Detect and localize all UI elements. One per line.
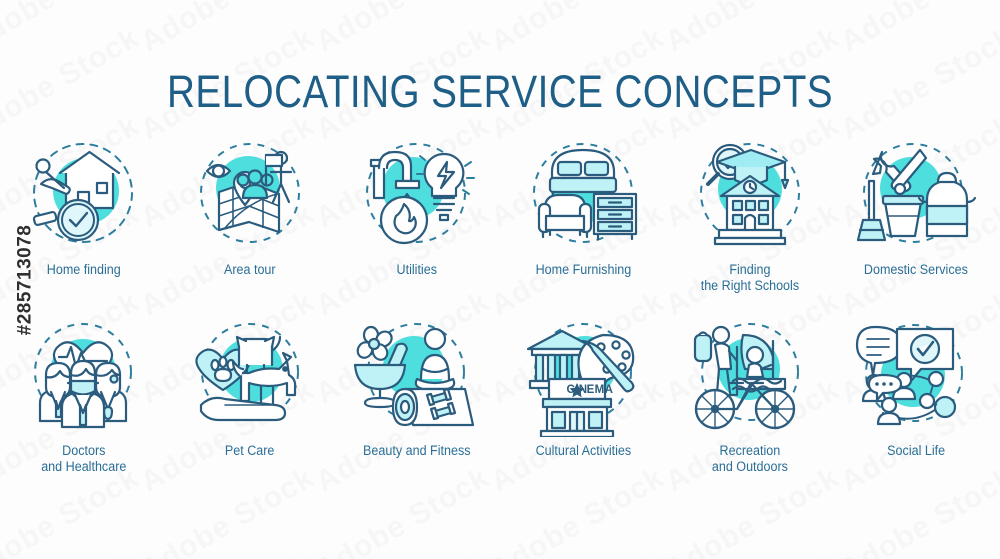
concept-label: Cultural Activities bbox=[535, 443, 631, 459]
concept-item-domestic-services[interactable]: Domestic Services bbox=[833, 136, 1000, 295]
concept-label: Area tour bbox=[224, 262, 276, 278]
pet-care-icon bbox=[175, 317, 325, 437]
concept-row-2: Doctors and Healthcare bbox=[0, 317, 1000, 476]
page-title: RELOCATING SERVICE CONCEPTS bbox=[70, 66, 930, 118]
concept-label: Home Furnishing bbox=[535, 262, 631, 278]
stock-watermark-tile: Adobe Stock bbox=[310, 0, 495, 59]
concept-label: Doctors and Healthcare bbox=[41, 443, 126, 476]
concept-label: Pet Care bbox=[225, 443, 275, 459]
concept-item-cultural-activities[interactable]: CIN EMA Cultural Activities bbox=[500, 317, 667, 476]
concept-label: Finding the Right Schools bbox=[700, 262, 798, 295]
concept-item-area-tour[interactable]: Area tour bbox=[167, 136, 334, 295]
concept-label: Social Life bbox=[887, 443, 945, 459]
stock-watermark-tile: Adobe Stock bbox=[485, 549, 670, 559]
stock-id-text: #285713078 bbox=[14, 224, 36, 335]
concept-item-social-life[interactable]: Social Life bbox=[833, 317, 1000, 476]
social-life-icon bbox=[841, 317, 991, 437]
concept-label: Recreation and Outdoors bbox=[712, 443, 788, 476]
area-tour-icon bbox=[175, 136, 325, 256]
concept-label: Domestic Services bbox=[864, 262, 968, 278]
stock-watermark-tile: Adobe Stock bbox=[660, 0, 845, 59]
stock-watermark-tile: Adobe Stock bbox=[135, 0, 320, 59]
concept-label: Home finding bbox=[46, 262, 120, 278]
concept-item-schools[interactable]: Finding the Right Schools bbox=[666, 136, 833, 295]
stock-watermark-tile: Adobe Stock bbox=[485, 0, 670, 59]
stock-watermark-tile: Adobe Stock bbox=[835, 0, 1000, 59]
schools-icon bbox=[675, 136, 825, 256]
concept-item-beauty-fitness[interactable]: Beauty and Fitness bbox=[333, 317, 500, 476]
concept-item-utilities[interactable]: Utilities bbox=[333, 136, 500, 295]
svg-text:EMA: EMA bbox=[587, 384, 614, 396]
concept-row-1: Home finding bbox=[0, 136, 1000, 295]
concept-label: Beauty and Fitness bbox=[363, 443, 470, 459]
stock-watermark-tile: Adobe Stock bbox=[835, 549, 1000, 559]
domestic-services-icon bbox=[841, 136, 991, 256]
stock-id-watermark: #285713078 bbox=[4, 0, 46, 559]
utilities-icon bbox=[341, 136, 491, 256]
concept-item-home-furnishing[interactable]: Home Furnishing bbox=[500, 136, 667, 295]
stock-watermark-tile: Adobe Stock bbox=[310, 549, 495, 559]
concept-item-recreation-outdoors[interactable]: Recreation and Outdoors bbox=[666, 317, 833, 476]
stock-watermark-tile: Adobe Stock bbox=[135, 549, 320, 559]
stock-watermark-tile: Adobe Stock bbox=[660, 549, 845, 559]
concept-label: Utilities bbox=[396, 262, 436, 278]
beauty-fitness-icon bbox=[341, 317, 491, 437]
home-furnishing-icon bbox=[508, 136, 658, 256]
concept-grid: Home finding bbox=[0, 136, 1000, 476]
recreation-outdoors-icon bbox=[675, 317, 825, 437]
concept-item-pet-care[interactable]: Pet Care bbox=[167, 317, 334, 476]
cultural-activities-icon: CIN EMA bbox=[508, 317, 658, 437]
